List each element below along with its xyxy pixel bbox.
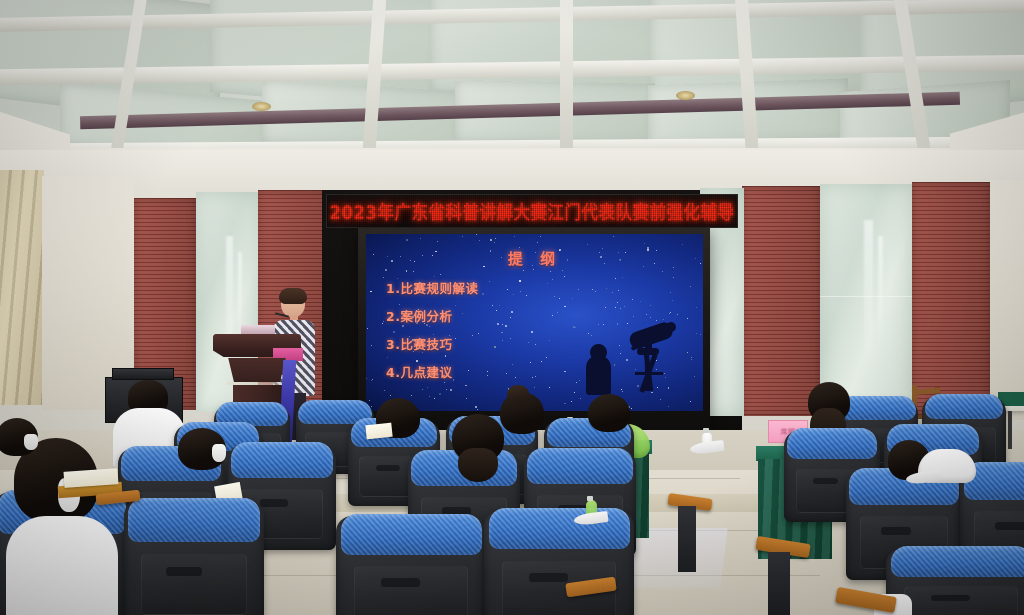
table-leg (1008, 411, 1012, 449)
lecture-hall-photo: 2023年广东省科普讲解大赛江门代表队赛前强化辅导 提 纲 1.比赛规则解读 2… (0, 0, 1024, 615)
led-banner-text: 2023年广东省科普讲解大赛江门代表队赛前强化辅导 (330, 198, 735, 225)
slide-outline-list: 1.比赛规则解读 2.案例分析 3.比赛技巧 4.几点建议 (386, 278, 478, 381)
armrest-post (678, 506, 696, 572)
window-curtain (0, 170, 44, 405)
ceiling-fan-mount (252, 102, 271, 111)
auditorium-seat[interactable] (336, 516, 486, 615)
armrest-post (768, 552, 790, 615)
attendee-head (808, 382, 850, 422)
ceiling-fan-mount (676, 91, 695, 100)
slide-list-item: 1.比赛规则解读 (386, 278, 478, 297)
face-mask (24, 434, 38, 450)
foreground-attendee-shirt (6, 516, 118, 615)
attendee-head (588, 394, 630, 432)
slide-list-item: 4.几点建议 (386, 362, 478, 381)
auditorium-seat[interactable] (124, 500, 264, 615)
water-bottle (586, 500, 597, 524)
projection-screen: 提 纲 1.比赛规则解读 2.案例分析 3.比赛技巧 4.几点建议 (366, 234, 703, 411)
attendee-head (178, 428, 226, 470)
documents-on-table (365, 423, 392, 440)
presenter-hair (279, 288, 307, 304)
slide-list-item: 2.案例分析 (386, 306, 478, 325)
av-speaker-box (112, 368, 174, 380)
observer-body-silhouette (586, 355, 611, 395)
right-plain-wall (990, 180, 1024, 420)
thermos-cup (702, 432, 712, 453)
telescope-icon (609, 315, 687, 399)
auditorium-seat[interactable] (484, 510, 634, 615)
led-scrolling-banner: 2023年广东省科普讲解大赛江门代表队赛前强化辅导 (326, 194, 738, 228)
slide-title: 提 纲 (366, 248, 703, 269)
wall-wood-panel (912, 182, 990, 418)
attendee-head (500, 392, 544, 434)
attendee-head (452, 414, 504, 462)
slide-list-item: 3.比赛技巧 (386, 334, 478, 353)
white-baseball-cap (918, 449, 976, 483)
